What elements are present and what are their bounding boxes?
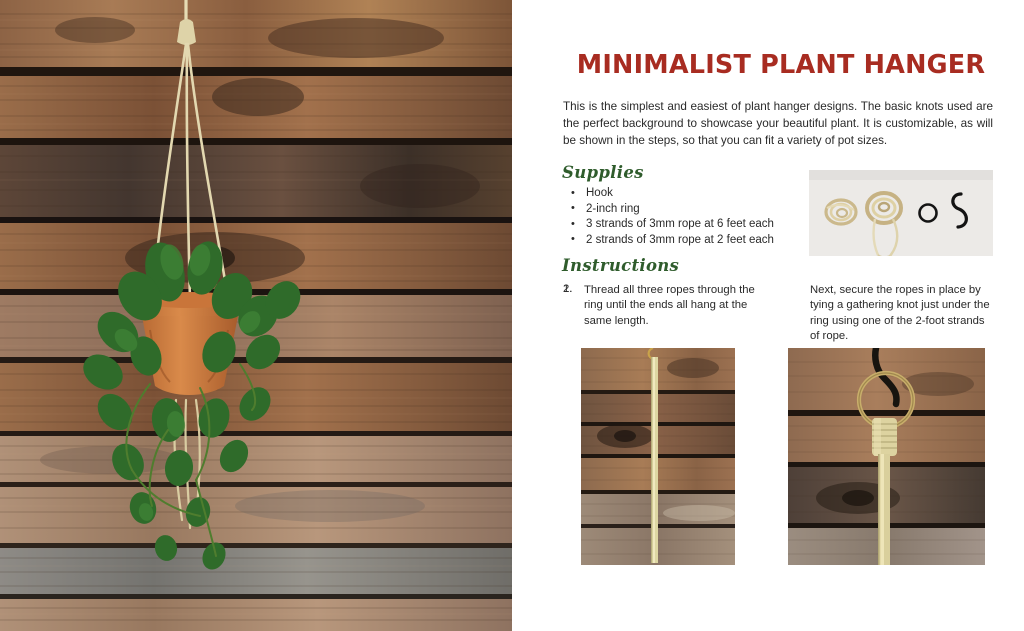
list-item: Hook (567, 186, 817, 202)
instructions-heading: Instructions (562, 256, 679, 275)
instruction-step-1: Thread all three ropes through the ring … (562, 283, 769, 345)
instruction-step-2: Next, secure the ropes in place by tying… (788, 283, 995, 345)
list-item: 2-inch ring (567, 202, 817, 218)
step-2-photo-illustration (788, 348, 985, 565)
step-1-photo (581, 348, 735, 565)
supplies-list: Hook 2-inch ring 3 strands of 3mm rope a… (567, 186, 817, 248)
supplies-photo-illustration (809, 170, 993, 256)
list-item: 2 strands of 3mm rope at 2 feet each (567, 233, 817, 249)
hero-photo-illustration (0, 0, 512, 631)
step-2-text: Next, secure the ropes in place by tying… (788, 283, 995, 345)
content-column: MINIMALIST PLANT HANGER This is the simp… (512, 0, 1024, 631)
page-title: MINIMALIST PLANT HANGER (561, 50, 1001, 80)
supplies-heading: Supplies (562, 163, 644, 182)
hero-photo (0, 0, 512, 631)
step-1-photo-illustration (581, 348, 735, 565)
intro-paragraph: This is the simplest and easiest of plan… (563, 98, 993, 150)
instruction-steps: Thread all three ropes through the ring … (562, 283, 1000, 345)
step-2-photo (788, 348, 985, 565)
list-item: 3 strands of 3mm rope at 6 feet each (567, 217, 817, 233)
step-2-number: 2. (563, 283, 572, 295)
step-1-text: Thread all three ropes through the ring … (562, 283, 769, 329)
recipe-page: MINIMALIST PLANT HANGER This is the simp… (0, 0, 1024, 631)
supplies-photo (809, 170, 993, 256)
step-photos (512, 348, 1024, 568)
